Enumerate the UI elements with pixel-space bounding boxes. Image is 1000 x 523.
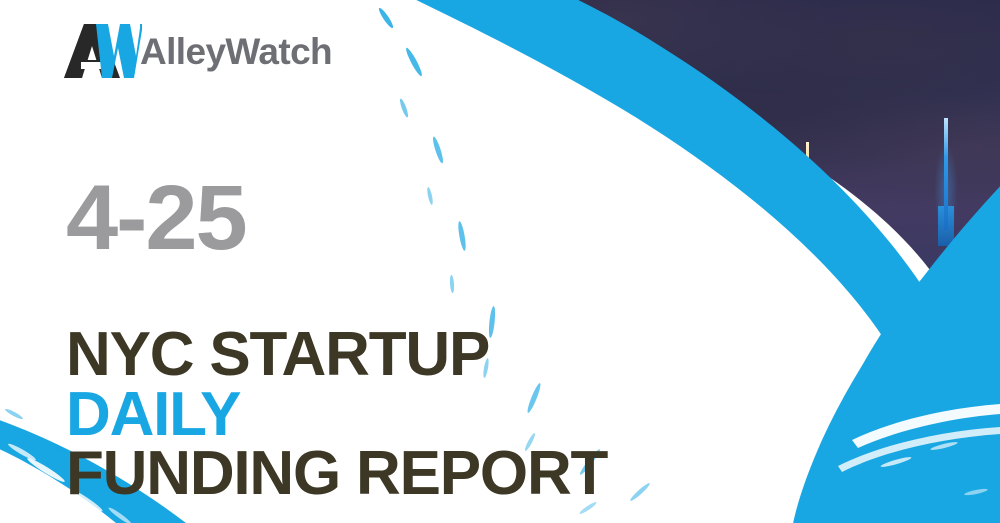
alleywatch-funding-report-banner: AlleyWatch 4-25 NYC STARTUP DAILY FUNDIN…	[0, 0, 1000, 523]
date-label: 4-25	[66, 172, 246, 264]
headline-line-2: DAILY	[66, 385, 607, 445]
aw-monogram-icon	[62, 22, 142, 80]
headline-block: NYC STARTUP DAILY FUNDING REPORT	[66, 325, 607, 504]
headline-line-1: NYC STARTUP	[66, 325, 607, 385]
headline-line-3: FUNDING REPORT	[66, 444, 607, 504]
alleywatch-logo[interactable]: AlleyWatch	[62, 22, 332, 80]
alleywatch-wordmark: AlleyWatch	[140, 33, 332, 70]
